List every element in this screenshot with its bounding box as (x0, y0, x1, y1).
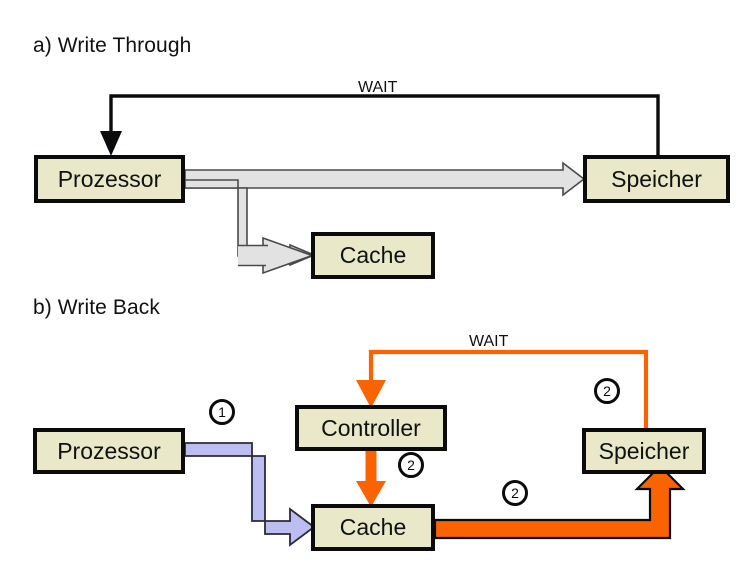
node-processor-b[interactable]: Prozessor (33, 428, 185, 474)
step-badge-label: 2 (603, 383, 611, 399)
step-badge-2-cache-to-memory: 2 (502, 480, 528, 506)
node-controller-b[interactable]: Controller (295, 405, 447, 451)
step-badge-label: 1 (218, 404, 226, 420)
node-label: Cache (340, 242, 406, 269)
diagram-canvas: a) Write Through b) Write Back WAIT Proz… (0, 0, 751, 580)
node-processor-a[interactable]: Prozessor (34, 155, 185, 203)
node-label: Controller (321, 415, 421, 442)
step-badge-label: 2 (407, 457, 415, 473)
arrow-cache-to-memory-b (435, 466, 683, 538)
arrow-processor-to-cache-b (185, 443, 314, 545)
node-label: Prozessor (58, 166, 162, 193)
wait-label-write-through: WAIT (358, 79, 397, 97)
step-badge-2-controller-to-cache: 2 (398, 452, 424, 478)
node-memory-b[interactable]: Speicher (582, 428, 706, 474)
node-label: Prozessor (57, 438, 161, 465)
node-label: Speicher (599, 438, 690, 465)
node-label: Speicher (611, 166, 702, 193)
wait-label-write-back: WAIT (469, 333, 508, 351)
node-cache-a[interactable]: Cache (311, 232, 435, 279)
arrow-controller-to-cache-b (356, 450, 386, 507)
step-badge-label: 2 (511, 485, 519, 501)
step-badge-2-memory-wait: 2 (594, 378, 620, 404)
node-label: Cache (340, 514, 406, 541)
node-memory-a[interactable]: Speicher (583, 155, 730, 203)
node-cache-b[interactable]: Cache (311, 504, 435, 551)
step-badge-1-processor-to-cache: 1 (209, 399, 235, 425)
